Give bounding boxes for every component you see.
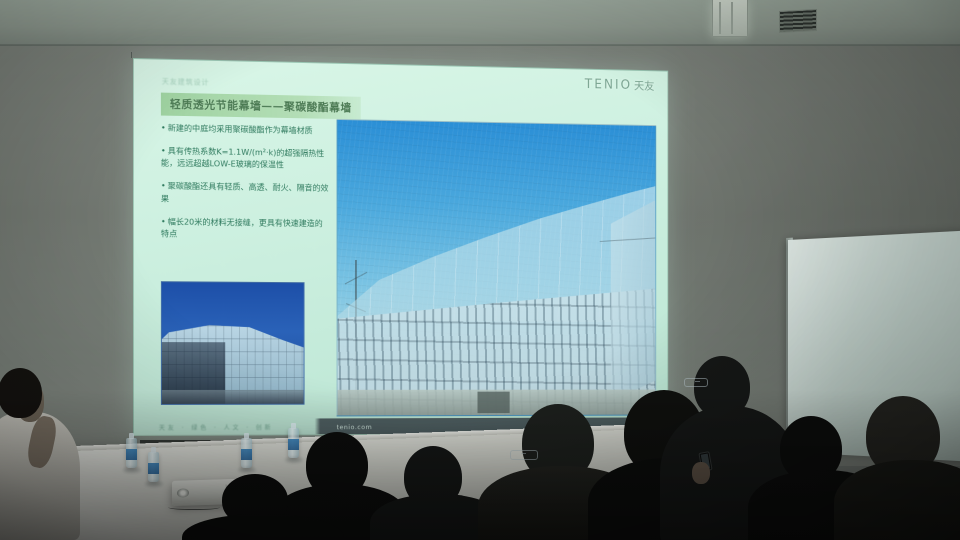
building-illustration: [337, 179, 657, 415]
bullet-text: 新建的中庭均采用聚碳酸酯作为幕墙材质: [168, 123, 313, 136]
bullet-text: 具有传热系数K=1.1W/(m²·k)的超强隔热性能，远远超越LOW-E玻璃的保…: [161, 145, 324, 169]
building-corner-volume: [611, 195, 656, 401]
ceiling-air-vent-icon: [779, 9, 817, 33]
water-bottle: [126, 438, 137, 468]
slide-photo-main: [337, 119, 657, 416]
bullet-dot: •: [161, 216, 166, 226]
bullet-text: 聚碳酸酯还具有轻质、高透、耐火、隔音的效果: [161, 181, 329, 204]
list-item: •聚碳酸酯还具有轻质、高透、耐火、隔音的效果: [161, 180, 330, 208]
person-shoulders: [834, 460, 960, 540]
bottle-shadow: [123, 467, 141, 473]
bullet-text: 幅长20米的材料无接缝，更具有快速建造的特点: [161, 216, 323, 239]
bottle-label: [148, 463, 159, 474]
conference-room-scene: 天友建筑设计 TENIO天友 轻质透光节能幕墙——聚碳酸酯幕墙 •新建的中庭均采…: [0, 0, 960, 540]
list-item: •幅长20米的材料无接缝，更具有快速建造的特点: [161, 215, 330, 242]
projector-lens-icon: [177, 488, 189, 497]
bottle-label: [126, 449, 137, 460]
inset-ground: [162, 390, 304, 404]
tenio-logo-text: TENIO: [585, 77, 632, 93]
list-item: •新建的中庭均采用聚碳酸酯作为幕墙材质: [161, 122, 330, 138]
tenio-logo: TENIO天友: [585, 76, 655, 93]
ceiling-light-fixture: [712, 0, 748, 37]
audience-person-8: [844, 396, 960, 540]
bullet-dot: •: [161, 123, 166, 133]
person-head: [0, 368, 42, 418]
projection-screen: 天友建筑设计 TENIO天友 轻质透光节能幕墙——聚碳酸酯幕墙 •新建的中庭均采…: [133, 58, 668, 436]
bullet-dot: •: [161, 181, 166, 191]
slide-title: 轻质透光节能幕墙——聚碳酸酯幕墙: [161, 93, 360, 120]
slide-kicker: 天友建筑设计: [162, 77, 210, 88]
list-item: •具有传热系数K=1.1W/(m²·k)的超强隔热性能，远远超越LOW-E玻璃的…: [161, 144, 330, 172]
person-shoulders: [182, 514, 344, 540]
slide-footer-url: tenio.com: [337, 423, 373, 431]
wall-mark: [131, 52, 132, 58]
slide-photo-inset: [161, 281, 305, 405]
bottle-shadow: [238, 467, 256, 473]
eyeglasses-icon: [510, 450, 538, 460]
presentation-slide: 天友建筑设计 TENIO天友 轻质透光节能幕墙——聚碳酸酯幕墙 •新建的中庭均采…: [133, 58, 668, 436]
bottle-label: [241, 449, 252, 460]
bullet-dot: •: [161, 145, 166, 155]
audience-person-1: [0, 368, 82, 540]
water-bottle: [148, 452, 159, 482]
tenio-logo-cn: 天友: [634, 79, 654, 92]
bottle-shadow: [145, 481, 163, 487]
eyeglasses-icon: [684, 378, 708, 387]
slide-bullet-list: •新建的中庭均采用聚碳酸酯作为幕墙材质 •具有传热系数K=1.1W/(m²·k)…: [161, 122, 330, 252]
audience-person-9: [196, 474, 326, 540]
slide-footer-tagline: 天友 · 绿色 · 人文 · 创新: [159, 423, 274, 432]
person-hand: [692, 462, 710, 484]
water-bottle: [241, 438, 252, 468]
